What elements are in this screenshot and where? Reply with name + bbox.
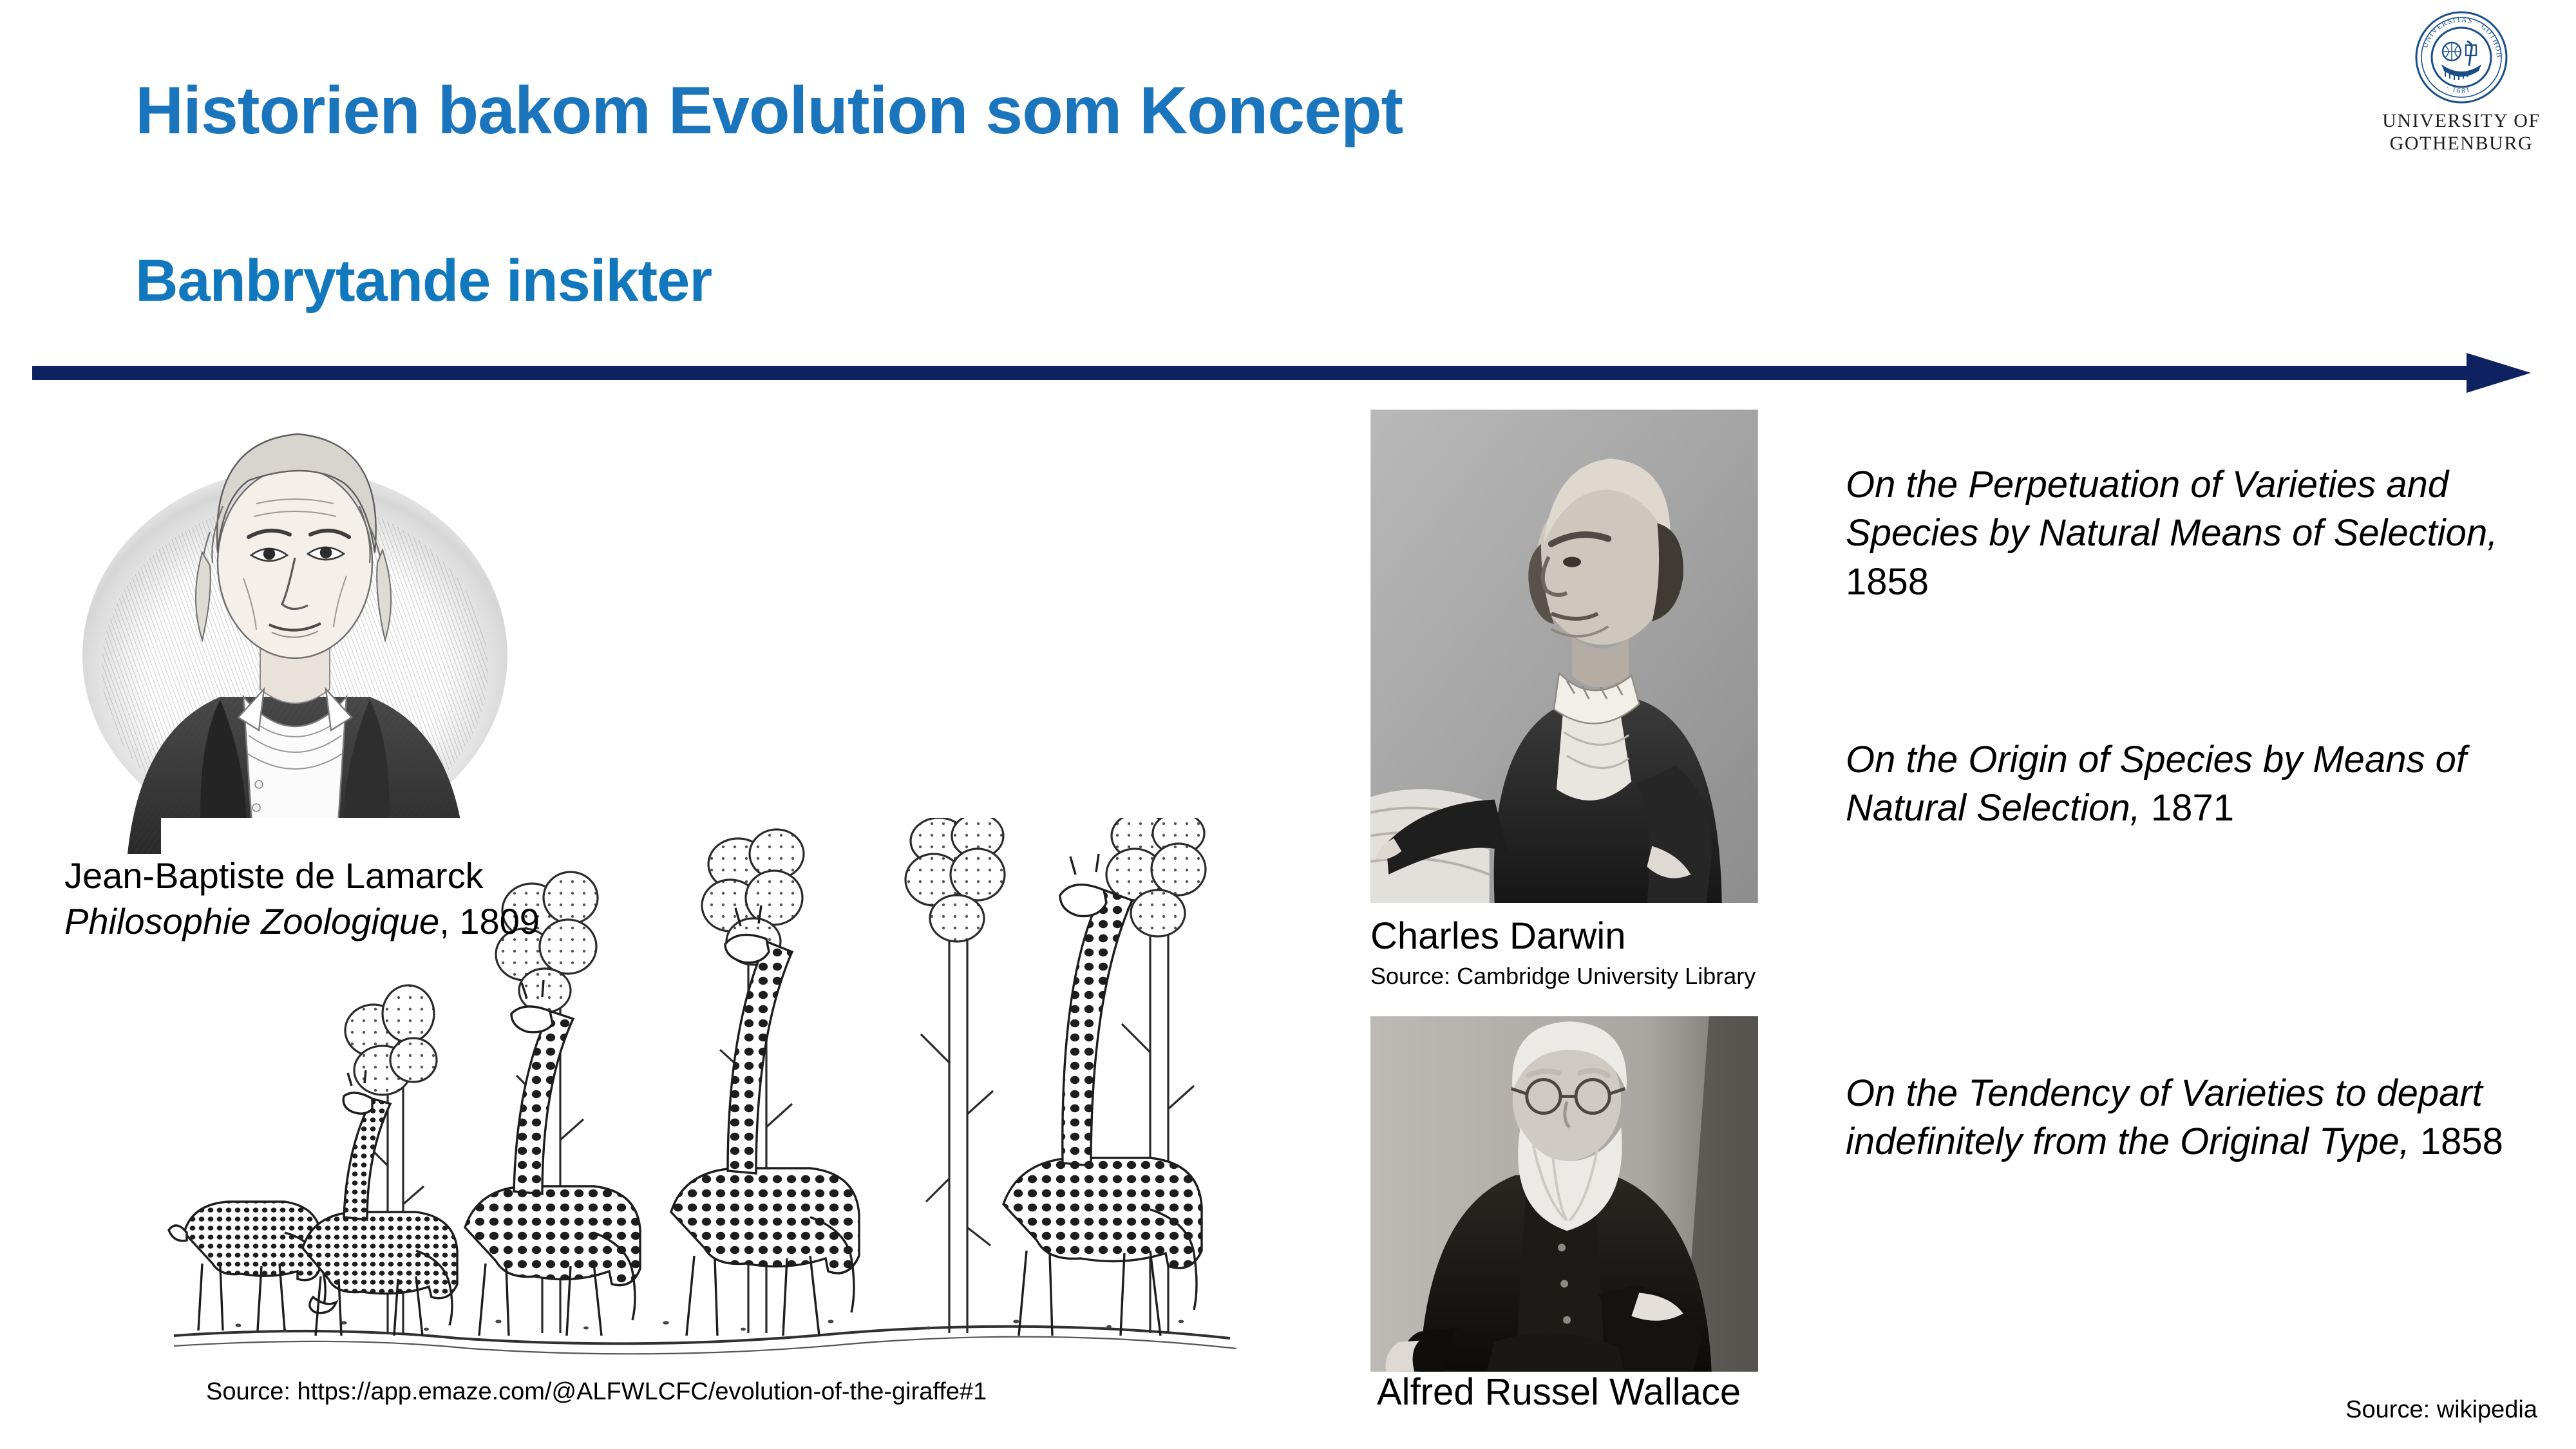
- university-seal-icon: UNIVERSITAS · GOTHOBURGENSIS · 1891 ·: [2413, 9, 2510, 106]
- lamarck-work-title: Philosophie Zoologique: [64, 901, 439, 942]
- darwin-work-1: On the Perpetuation of Varieties and Spe…: [1846, 460, 2528, 606]
- giraffe-source-caption: Source: https://app.emaze.com/@ALFWLCFC/…: [206, 1378, 987, 1406]
- alfred-russel-wallace-photo: [1370, 1016, 1758, 1372]
- lamarck-work-year: , 1809: [439, 901, 540, 942]
- darwin-work-2-text: On the Origin of Species by Means of Nat…: [1846, 735, 2528, 833]
- charles-darwin-photo: [1370, 410, 1758, 903]
- svg-text:UNIVERSITAS · GOTHOBURGENSIS: UNIVERSITAS · GOTHOBURGENSIS: [2413, 9, 2503, 59]
- logo-line-2: GOTHENBURG: [2371, 132, 2552, 155]
- wallace-work-1: On the Tendency of Varieties to depart i…: [1846, 1069, 2528, 1166]
- slide-canvas: Historien bakom Evolution som Koncept Ba…: [0, 0, 2576, 1449]
- wallace-work-1-title: On the Tendency of Varieties to depart i…: [1846, 1072, 2483, 1162]
- svg-text:· 1891 ·: · 1891 ·: [2445, 83, 2477, 94]
- darwin-work-2-year: 1871: [2141, 787, 2234, 829]
- lamarck-work: Philosophie Zoologique, 1809: [64, 899, 540, 945]
- darwin-work-1-title: On the Perpetuation of Varieties and Spe…: [1846, 464, 2497, 554]
- lamarck-portrait-image: [50, 398, 540, 854]
- darwin-work-2: On the Origin of Species by Means of Nat…: [1846, 735, 2528, 833]
- university-logo: UNIVERSITAS · GOTHOBURGENSIS · 1891 · UN…: [2371, 9, 2552, 155]
- darwin-source-caption: Source: Cambridge University Library: [1370, 963, 1756, 990]
- wallace-work-1-year: 1858: [2410, 1121, 2503, 1162]
- page-title: Historien bakom Evolution som Koncept: [135, 76, 1403, 146]
- wallace-work-1-text: On the Tendency of Varieties to depart i…: [1846, 1069, 2528, 1166]
- logo-line-1: UNIVERSITY OF: [2371, 109, 2552, 132]
- wallace-name: Alfred Russel Wallace: [1377, 1372, 1741, 1413]
- darwin-work-1-year: 1858: [1846, 561, 1929, 603]
- lamarck-name: Jean-Baptiste de Lamarck: [64, 853, 540, 899]
- logo-wordmark: UNIVERSITY OF GOTHENBURG: [2371, 109, 2552, 155]
- darwin-work-1-text: On the Perpetuation of Varieties and Spe…: [1846, 460, 2528, 606]
- darwin-name: Charles Darwin: [1370, 916, 1625, 957]
- timeline-arrow: [32, 348, 2544, 406]
- lamarck-caption: Jean-Baptiste de Lamarck Philosophie Zoo…: [64, 853, 540, 944]
- wikipedia-source-caption: Source: wikipedia: [2345, 1396, 2537, 1424]
- page-subtitle: Banbrytande insikter: [135, 250, 712, 312]
